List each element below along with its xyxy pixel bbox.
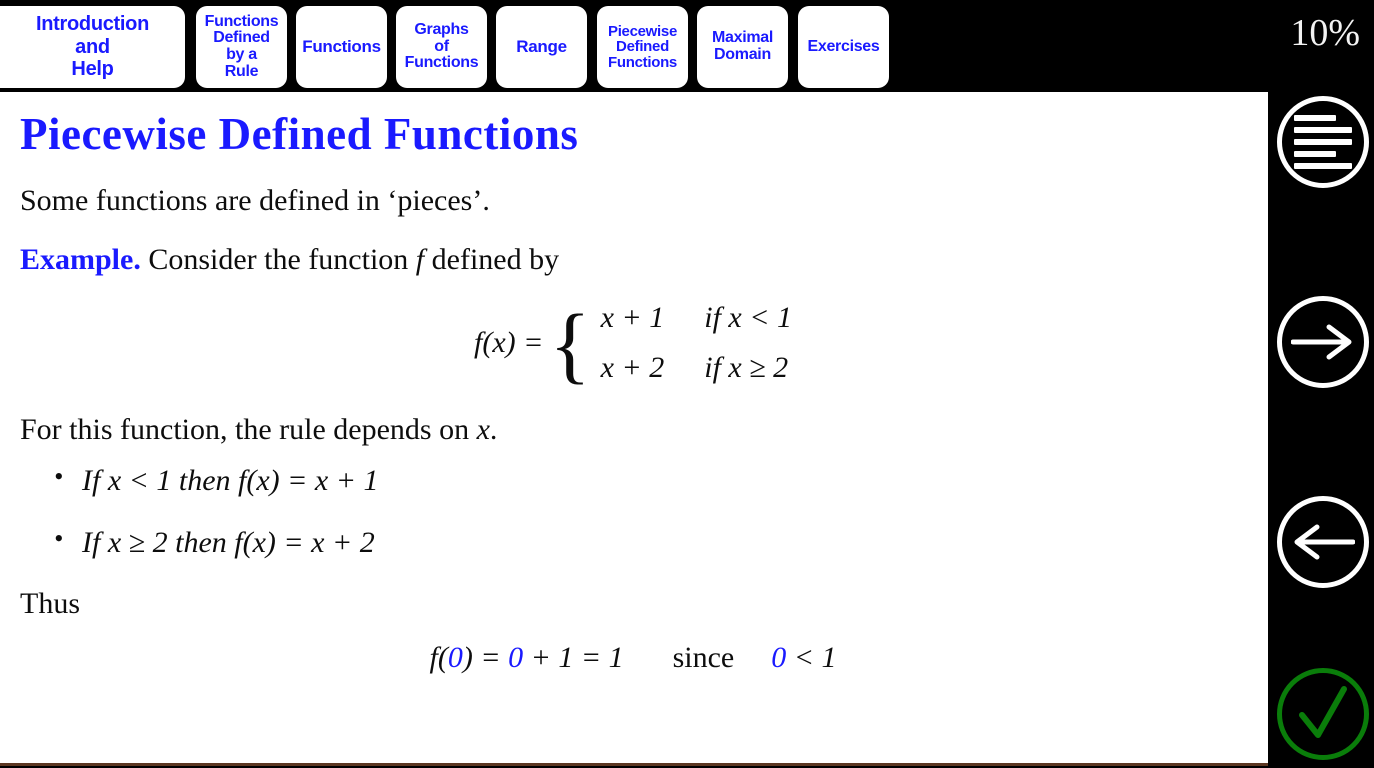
list-item: If x < 1 then f(x) = x + 1 xyxy=(82,462,1246,500)
nav-button-label: Functions xyxy=(302,38,381,56)
rule-text-a: For this function, the rule depends on xyxy=(20,413,469,446)
top-navigation-bar: Introduction and Help Functions Defined … xyxy=(0,0,1374,92)
equation-case-row: x + 2 if x ≥ 2 xyxy=(601,343,792,393)
side-control-panel xyxy=(1272,92,1374,768)
page-title: Piecewise Defined Functions xyxy=(20,110,1246,160)
case-condition: if x < 1 xyxy=(664,293,792,343)
menu-line xyxy=(1294,151,1336,157)
case-expression: x + 1 xyxy=(601,293,665,343)
equation-cases: x + 1 if x < 1 x + 2 if x ≥ 2 xyxy=(601,293,792,393)
arrow-right-icon xyxy=(1277,296,1369,388)
contents-menu-button[interactable] xyxy=(1272,92,1374,192)
check-mark-icon xyxy=(1277,668,1369,760)
since-label: since xyxy=(673,641,735,674)
example-keyword: Example. xyxy=(20,243,141,276)
nav-button-label: Range xyxy=(516,38,566,56)
nav-graphs-of-functions[interactable]: Graphs of Functions xyxy=(396,6,487,88)
arrow-left-icon xyxy=(1277,496,1369,588)
final-eq-condition-value: 0 xyxy=(771,641,786,674)
nav-maximal-domain[interactable]: Maximal Domain xyxy=(697,6,788,88)
worked-example-equation: f(0) = 0 + 1 = 1 since 0 < 1 xyxy=(20,641,1246,675)
nav-button-label: Piecewise Defined Functions xyxy=(608,24,677,71)
nav-range[interactable]: Range xyxy=(496,6,587,88)
example-text-b: defined by xyxy=(432,243,559,276)
rule-variable: x xyxy=(477,413,490,446)
nav-button-label: Exercises xyxy=(807,39,879,56)
equation-case-row: x + 1 if x < 1 xyxy=(601,293,792,343)
list-item: If x ≥ 2 then f(x) = x + 2 xyxy=(82,524,1246,562)
previous-page-button[interactable] xyxy=(1272,492,1374,592)
thus-label: Thus xyxy=(20,585,1246,623)
intro-paragraph: Some functions are defined in ‘pieces’. xyxy=(20,182,1246,220)
example-text-a: Consider the function xyxy=(148,243,408,276)
nav-button-label: Maximal Domain xyxy=(712,30,773,63)
rule-paragraph: For this function, the rule depends on x… xyxy=(20,411,1246,449)
menu-line xyxy=(1294,127,1352,133)
presentation-window: Introduction and Help Functions Defined … xyxy=(0,0,1374,768)
hamburger-menu-icon xyxy=(1277,96,1369,188)
rule-bullet-list: If x < 1 then f(x) = x + 1 If x ≥ 2 then… xyxy=(20,462,1246,561)
progress-percentage: 10% xyxy=(1290,14,1360,52)
nav-button-label: Functions Defined by a Rule xyxy=(205,14,279,81)
menu-line xyxy=(1294,139,1352,145)
final-eq-condition-rest: < 1 xyxy=(794,641,837,674)
equation-left-hand-side: f(x) = xyxy=(474,326,543,360)
example-function-symbol: f xyxy=(416,243,424,276)
check-answer-button[interactable] xyxy=(1272,664,1374,764)
final-eq-rest: + 1 = 1 xyxy=(531,641,624,674)
nav-piecewise-defined-functions[interactable]: Piecewise Defined Functions xyxy=(597,6,688,88)
nav-introduction-and-help[interactable]: Introduction and Help xyxy=(0,6,185,88)
nav-functions[interactable]: Functions xyxy=(296,6,387,88)
left-brace-icon: { xyxy=(549,309,590,380)
menu-line xyxy=(1294,115,1336,121)
example-paragraph: Example. Consider the function f defined… xyxy=(20,241,1246,279)
nav-exercises[interactable]: Exercises xyxy=(798,6,889,88)
nav-button-label: Introduction and Help xyxy=(36,13,149,80)
nav-functions-defined-by-a-rule[interactable]: Functions Defined by a Rule xyxy=(196,6,287,88)
case-condition: if x ≥ 2 xyxy=(664,343,792,393)
nav-button-label: Graphs of Functions xyxy=(405,22,479,72)
final-eq-argument: 0 xyxy=(448,641,463,674)
next-page-button[interactable] xyxy=(1272,292,1374,392)
final-eq-function-close: ) = xyxy=(463,641,501,674)
case-expression: x + 2 xyxy=(601,343,665,393)
rule-text-b: . xyxy=(490,413,498,446)
final-eq-substituted-value: 0 xyxy=(508,641,523,674)
piecewise-definition-equation: f(x) = { x + 1 if x < 1 x + 2 if x ≥ 2 xyxy=(20,293,1246,393)
final-eq-function-open: f( xyxy=(430,641,448,674)
menu-line xyxy=(1294,163,1352,169)
hamburger-lines xyxy=(1294,115,1352,169)
slide-content-area: Piecewise Defined Functions Some functio… xyxy=(0,92,1268,766)
